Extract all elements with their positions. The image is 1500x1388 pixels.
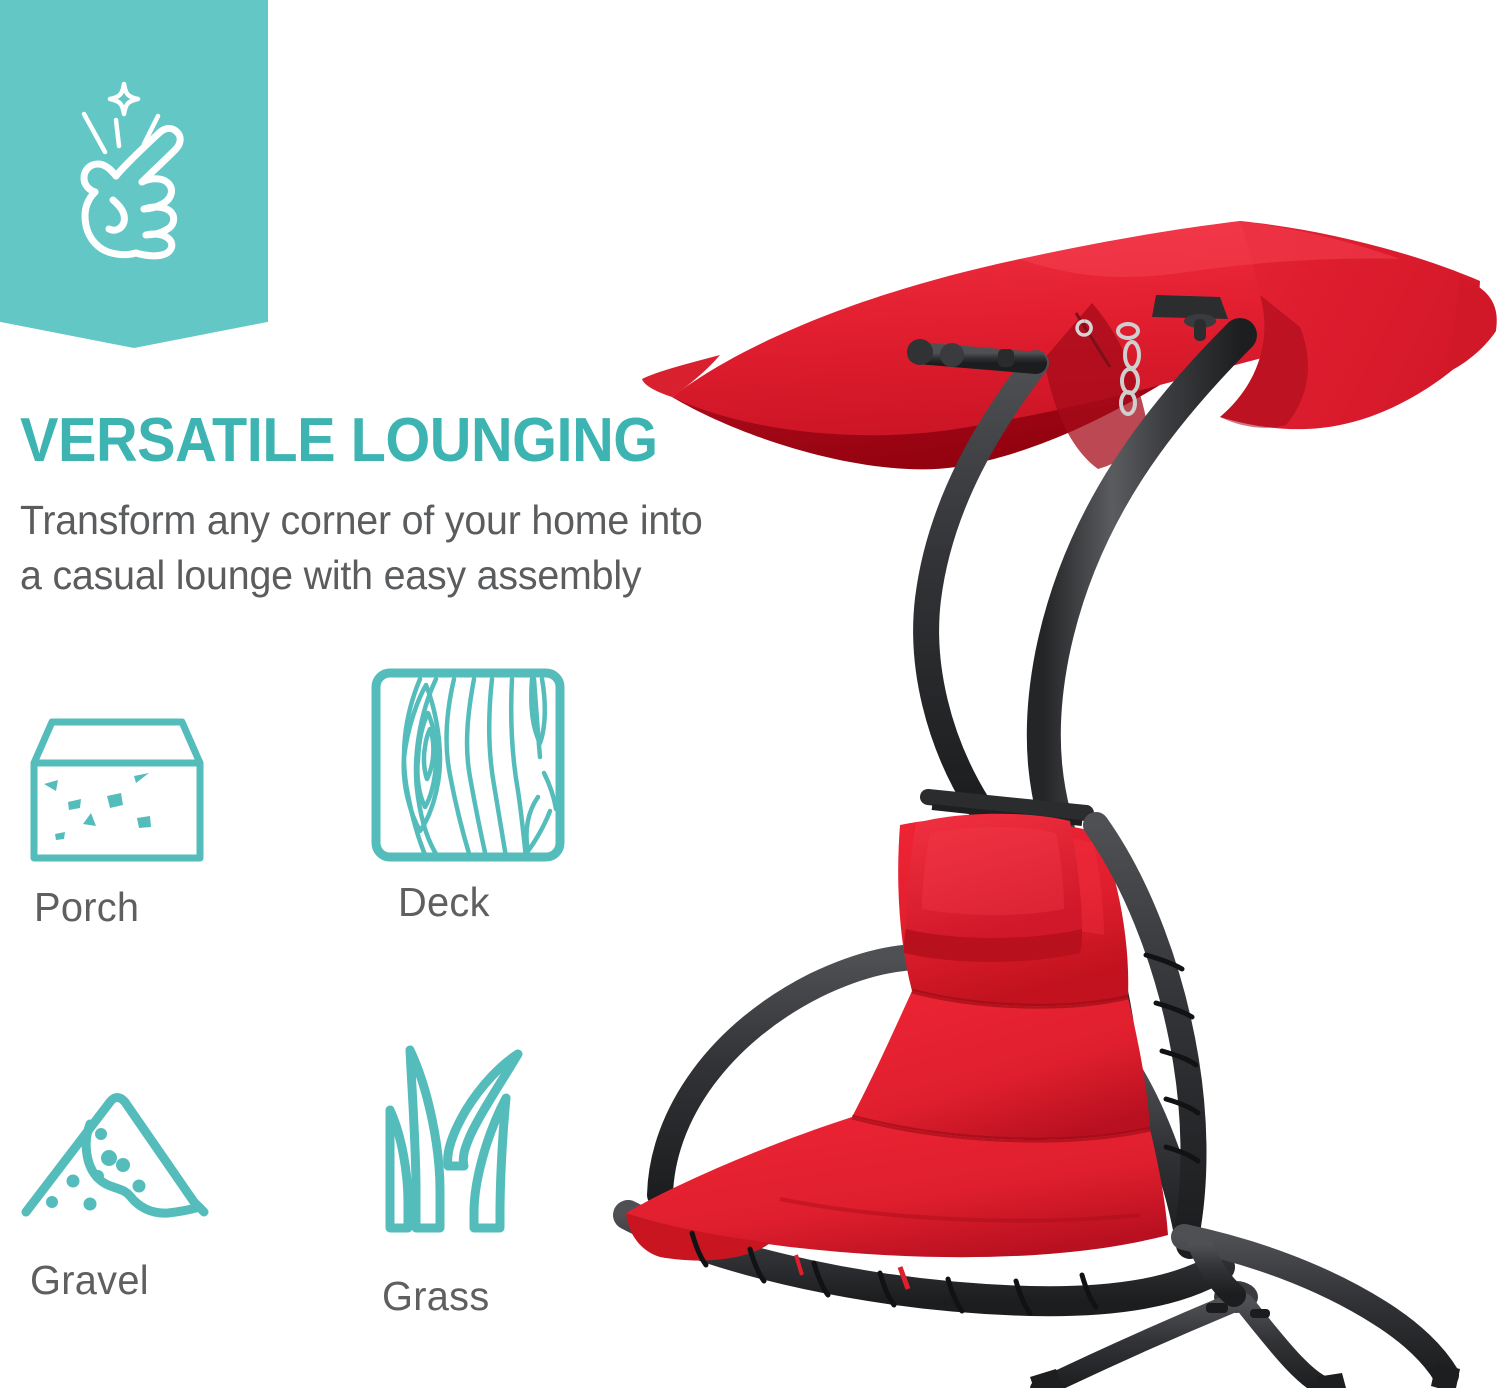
gravel-mound-icon (18, 1080, 233, 1235)
grass-blades-icon (378, 1040, 558, 1255)
wood-grain-icon (368, 665, 568, 865)
feature-item-grass: Grass (350, 1040, 640, 1320)
concrete-slab-icon (22, 710, 212, 870)
feature-label-grass: Grass (382, 1273, 632, 1320)
product-image-hanging-chaise-lounge (600, 185, 1500, 1388)
subtitle-line-2: a casual lounge with easy assembly (20, 552, 641, 598)
canopy (642, 221, 1497, 469)
teal-ribbon-banner (0, 0, 268, 348)
headrest-pillow (904, 814, 1082, 962)
feature-item-porch: Porch (10, 710, 300, 931)
surface-types-grid: Porch (0, 665, 610, 1365)
feature-item-gravel: Gravel (10, 1080, 300, 1304)
feature-item-deck: Deck (350, 665, 640, 926)
product-feature-panel: VERSATILE LOUNGING Transform any corner … (0, 0, 1500, 1388)
finger-snap-icon (58, 72, 210, 272)
seat-cushion (626, 818, 1168, 1261)
feature-label-deck: Deck (398, 879, 633, 926)
feature-label-gravel: Gravel (30, 1257, 292, 1304)
feature-label-porch: Porch (34, 884, 292, 931)
